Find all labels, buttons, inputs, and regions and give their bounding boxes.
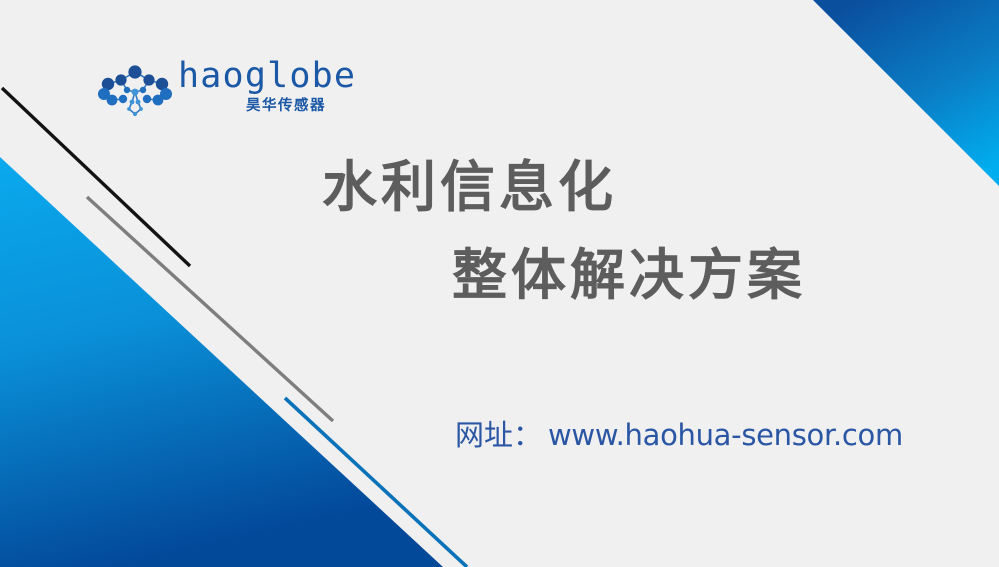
page-title: 水利信息化 整体解决方案 — [0, 160, 999, 303]
website-url[interactable]: www.haohua-sensor.com — [548, 418, 903, 452]
logo-wordmark-block: haoglobe 昊华传感器 — [178, 58, 326, 120]
haoglobe-network-dots-icon — [96, 62, 174, 117]
brand-logo[interactable]: haoglobe 昊华传感器 — [96, 58, 326, 120]
page-title-line-2: 整体解决方案 — [452, 248, 999, 303]
page-title-line-1: 水利信息化 — [322, 160, 999, 215]
website-label: 网址： — [455, 418, 542, 452]
presentation-title-slide: haoglobe 昊华传感器 水利信息化 整体解决方案 网址：www.haohu… — [0, 0, 999, 567]
website-line: 网址：www.haohua-sensor.com — [455, 421, 903, 450]
logo-subtitle-text: 昊华传感器 — [246, 99, 326, 114]
logo-wordmark-text: haoglobe — [178, 59, 356, 94]
